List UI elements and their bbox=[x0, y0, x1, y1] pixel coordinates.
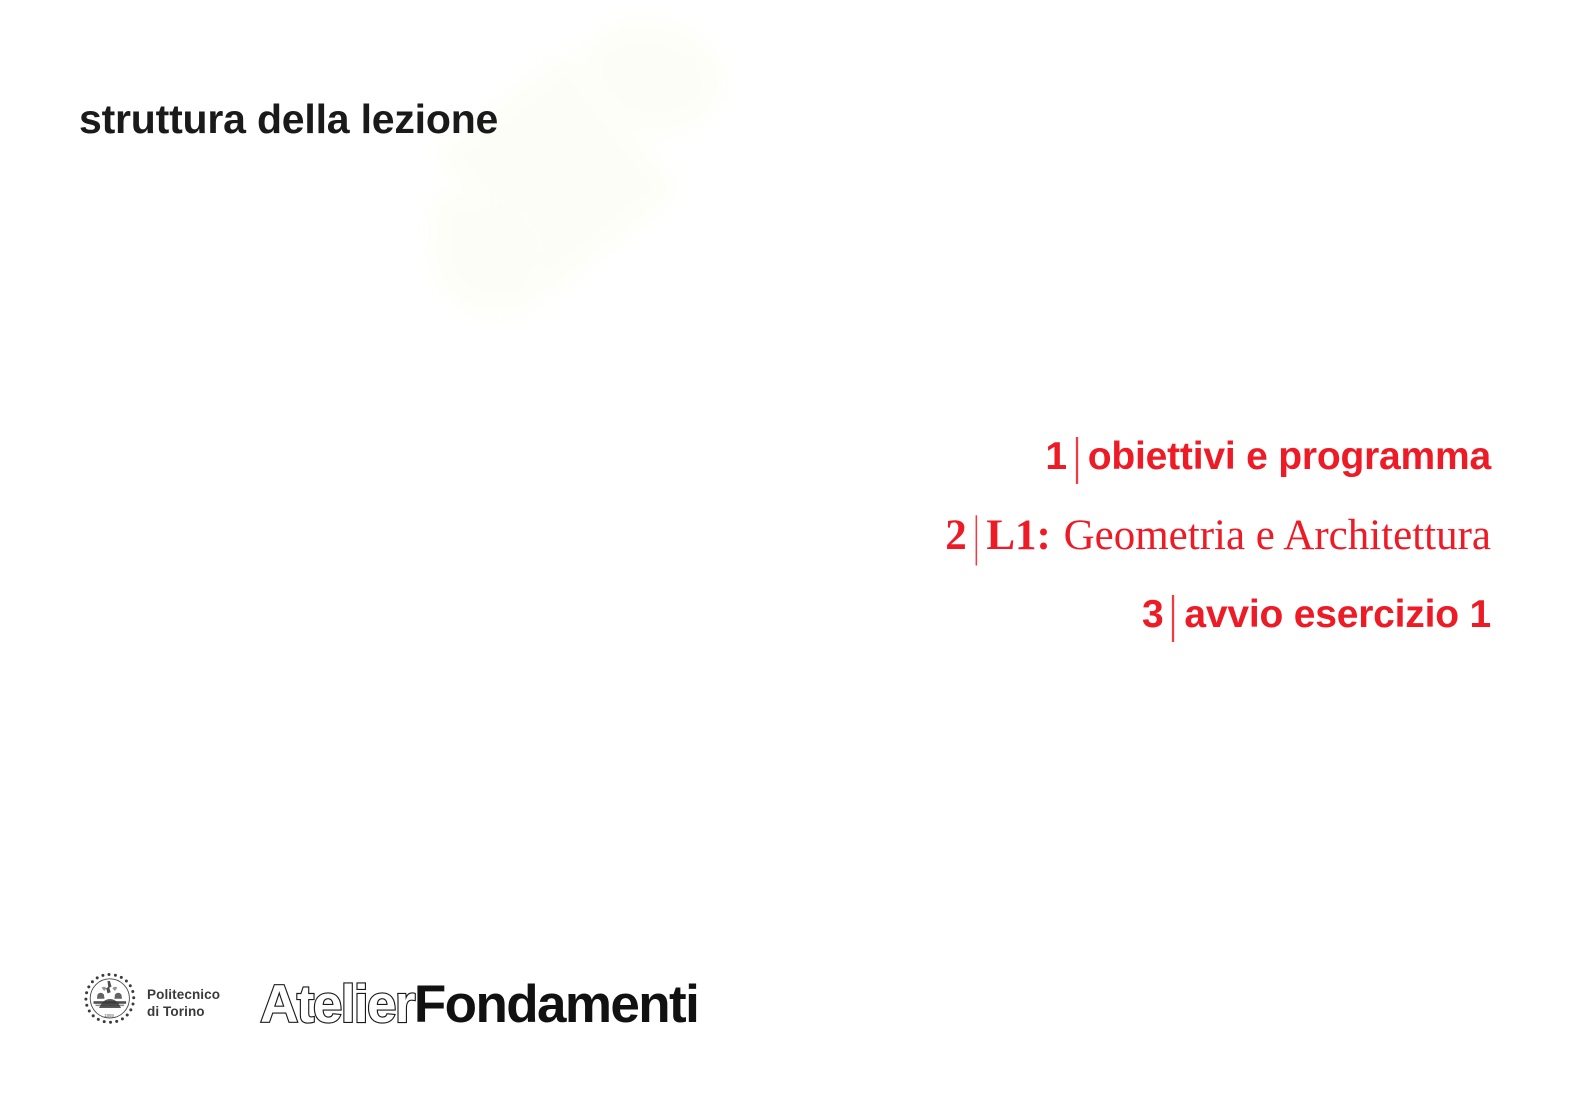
agenda-item-1[interactable]: 1|obiettivi e programma bbox=[945, 437, 1491, 476]
agenda-item-2-label: Geometria e Architettura bbox=[1064, 512, 1491, 559]
agenda-item-2-code: L1: bbox=[986, 512, 1051, 559]
politecnico-logo: 1859 Politecnico di Torino bbox=[79, 968, 220, 1040]
slide-canvas: struttura della lezione 1|obiettivi e pr… bbox=[0, 0, 1579, 1116]
fondamenti-wordmark-solid: Fondamenti bbox=[414, 978, 698, 1031]
atelier-fondamenti-logo: AtelierFondamenti bbox=[260, 978, 698, 1031]
agenda-item-3[interactable]: 3|avvio esercizio 1 bbox=[945, 595, 1491, 634]
agenda-item-3-label: avvio esercizio 1 bbox=[1184, 593, 1491, 636]
agenda-item-3-number: 3 bbox=[1142, 593, 1164, 636]
watermark-blob-b bbox=[432, 46, 684, 300]
politecnico-line-2: di Torino bbox=[147, 1004, 220, 1021]
svg-text:1859: 1859 bbox=[104, 1013, 114, 1018]
scan-watermark bbox=[430, 20, 720, 310]
agenda-list: 1|obiettivi e programma 2|L1: Geometria … bbox=[945, 437, 1491, 634]
politecnico-crest-icon: 1859 bbox=[79, 968, 139, 1040]
watermark-blob-c bbox=[430, 190, 550, 315]
agenda-item-2-number: 2 bbox=[945, 512, 967, 559]
agenda-item-1-separator: | bbox=[1073, 433, 1080, 483]
atelier-wordmark-outline: Atelier bbox=[260, 978, 414, 1031]
agenda-item-2-separator: | bbox=[973, 509, 979, 564]
politecnico-line-1: Politecnico bbox=[147, 987, 220, 1004]
politecnico-wordmark: Politecnico di Torino bbox=[147, 987, 220, 1021]
watermark-blob-a bbox=[580, 20, 725, 135]
footer: 1859 Politecnico di Torino AtelierFondam… bbox=[79, 968, 698, 1040]
agenda-item-1-label: obiettivi e programma bbox=[1088, 435, 1491, 478]
page-title: struttura della lezione bbox=[79, 99, 498, 140]
agenda-item-2[interactable]: 2|L1: Geometria e Architettura bbox=[945, 514, 1491, 557]
agenda-item-3-separator: | bbox=[1170, 591, 1177, 641]
agenda-item-1-number: 1 bbox=[1045, 435, 1067, 478]
